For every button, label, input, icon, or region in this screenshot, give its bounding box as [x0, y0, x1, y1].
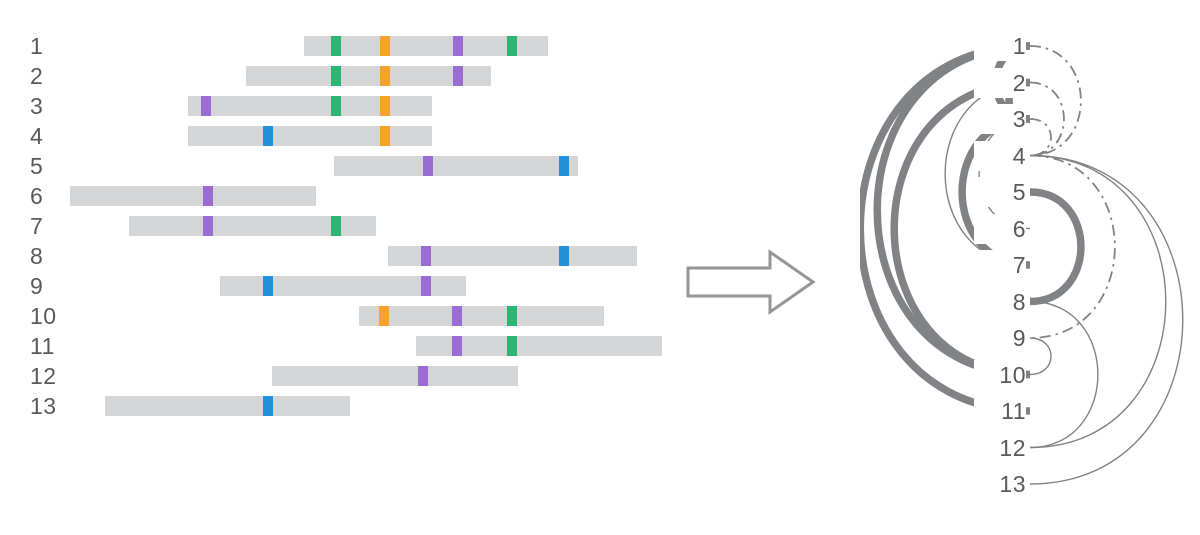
sequence-row-label: 8	[30, 241, 78, 271]
sequence-marker-blue	[263, 276, 273, 296]
arc-node-label-8: 8	[974, 287, 1026, 317]
sequence-marker-green	[507, 306, 517, 326]
sequence-bar	[359, 306, 604, 326]
sequence-marker-purple	[423, 156, 433, 176]
transform-arrow	[686, 248, 816, 316]
sequence-row: 13	[0, 391, 680, 421]
diagram-root: 12345678910111213 12345678910111213	[0, 0, 1200, 535]
arc-node-label-6: 6	[974, 214, 1026, 244]
sequence-marker-purple	[203, 216, 213, 236]
sequence-marker-purple	[453, 66, 463, 86]
sequence-bar	[334, 156, 578, 176]
arc-node-label-5: 5	[974, 177, 1026, 207]
arc-diagram-svg	[860, 0, 1200, 535]
sequence-marker-purple	[421, 246, 431, 266]
arc-node-label-4: 4	[974, 141, 1026, 171]
sequence-bar	[416, 336, 662, 356]
sequence-bar	[246, 66, 491, 86]
sequence-marker-purple	[201, 96, 211, 116]
sequence-marker-green	[331, 216, 341, 236]
sequence-row-label: 1	[30, 31, 78, 61]
sequence-marker-orange	[380, 66, 390, 86]
arc-node-label-9: 9	[974, 323, 1026, 353]
sequence-marker-purple	[452, 336, 462, 356]
arc-right-5-8	[1030, 192, 1081, 302]
sequence-marker-orange	[380, 36, 390, 56]
sequence-row-label: 4	[30, 121, 78, 151]
sequence-marker-green	[331, 96, 341, 116]
sequence-bar	[70, 186, 316, 206]
sequence-marker-blue	[559, 156, 569, 176]
sequence-row: 11	[0, 331, 680, 361]
arc-right-4-9	[1030, 156, 1115, 339]
sequence-marker-green	[507, 336, 517, 356]
arc-node-label-12: 12	[974, 433, 1026, 463]
sequence-marker-orange	[380, 96, 390, 116]
arc-node-label-1: 1	[974, 31, 1026, 61]
arc-node-label-13: 13	[974, 469, 1026, 499]
sequence-row-label: 10	[30, 301, 78, 331]
sequence-row: 12	[0, 361, 680, 391]
arc-node-label-10: 10	[974, 360, 1026, 390]
sequence-marker-orange	[380, 126, 390, 146]
arc-node-label-7: 7	[974, 250, 1026, 280]
arc-right-9-10	[1030, 338, 1051, 375]
sequence-bar	[304, 36, 548, 56]
sequence-bar	[220, 276, 466, 296]
sequence-row: 10	[0, 301, 680, 331]
sequence-bar	[272, 366, 518, 386]
sequence-row: 3	[0, 91, 680, 121]
arc-right-3-4	[1030, 119, 1051, 156]
sequence-marker-orange	[379, 306, 389, 326]
sequence-bar	[188, 96, 432, 116]
sequence-row: 7	[0, 211, 680, 241]
arc-node-label-11: 11	[974, 396, 1026, 426]
arrow-right-icon	[686, 248, 816, 316]
sequence-row-label: 2	[30, 61, 78, 91]
sequence-marker-blue	[263, 126, 273, 146]
sequence-bar	[129, 216, 376, 236]
sequence-marker-blue	[559, 246, 569, 266]
sequence-marker-green	[331, 36, 341, 56]
sequence-bar	[388, 246, 637, 266]
sequence-row-label: 12	[30, 361, 78, 391]
sequence-row-label: 11	[30, 331, 78, 361]
arc-node-label-2: 2	[974, 68, 1026, 98]
sequence-marker-green	[507, 36, 517, 56]
sequence-marker-purple	[203, 186, 213, 206]
sequence-row-label: 13	[30, 391, 78, 421]
sequence-marker-purple	[452, 306, 462, 326]
sequence-marker-purple	[418, 366, 428, 386]
sequence-row-label: 5	[30, 151, 78, 181]
sequence-panel: 12345678910111213	[0, 0, 680, 535]
sequence-row-label: 3	[30, 91, 78, 121]
sequence-row: 1	[0, 31, 680, 61]
arc-node-label-3: 3	[974, 104, 1026, 134]
sequence-marker-purple	[453, 36, 463, 56]
sequence-marker-purple	[421, 276, 431, 296]
sequence-bar	[188, 126, 432, 146]
sequence-marker-blue	[263, 396, 273, 416]
sequence-row: 9	[0, 271, 680, 301]
sequence-row-label: 9	[30, 271, 78, 301]
sequence-row: 4	[0, 121, 680, 151]
sequence-row: 2	[0, 61, 680, 91]
sequence-row-label: 7	[30, 211, 78, 241]
arc-panel: 12345678910111213	[860, 0, 1200, 535]
arc-right-1-4	[1030, 46, 1081, 156]
sequence-bar	[105, 396, 350, 416]
arc-right-8-12	[1030, 302, 1098, 448]
sequence-row: 8	[0, 241, 680, 271]
sequence-row: 6	[0, 181, 680, 211]
sequence-marker-green	[331, 66, 341, 86]
sequence-row: 5	[0, 151, 680, 181]
